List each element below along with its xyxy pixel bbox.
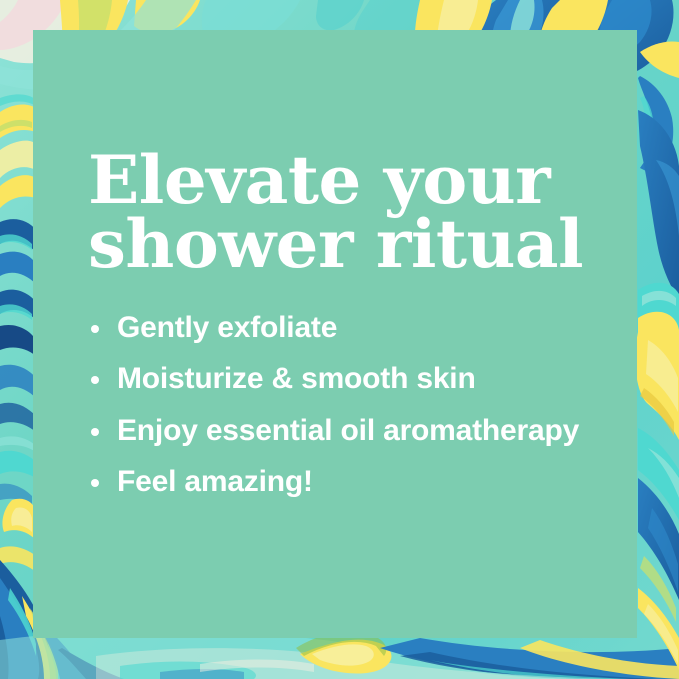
list-item: Feel amazing! xyxy=(88,466,627,498)
benefits-list: Gently exfoliate Moisturize & smooth ski… xyxy=(88,312,627,499)
product-benefits-graphic: Elevate your shower ritual Gently exfoli… xyxy=(0,0,679,679)
list-item-label: Feel amazing! xyxy=(117,465,313,498)
list-item: Moisturize & smooth skin xyxy=(88,363,627,395)
bullet-dot-icon xyxy=(91,325,99,333)
content-panel: Elevate your shower ritual Gently exfoli… xyxy=(33,30,637,638)
headline-line-2: shower ritual xyxy=(88,212,638,276)
list-item-label: Moisturize & smooth skin xyxy=(117,362,476,395)
list-item: Enjoy essential oil aromatherapy xyxy=(88,415,627,447)
list-item-label: Enjoy essential oil aromatherapy xyxy=(117,414,579,447)
page-title: Elevate your shower ritual xyxy=(88,148,627,276)
panel-inner: Elevate your shower ritual Gently exfoli… xyxy=(88,148,627,499)
headline-line-1: Elevate your xyxy=(88,148,638,212)
bullet-dot-icon xyxy=(91,428,99,436)
list-item: Gently exfoliate xyxy=(88,312,627,344)
bullet-dot-icon xyxy=(91,479,99,487)
list-item-label: Gently exfoliate xyxy=(117,311,337,344)
bullet-dot-icon xyxy=(91,376,99,384)
